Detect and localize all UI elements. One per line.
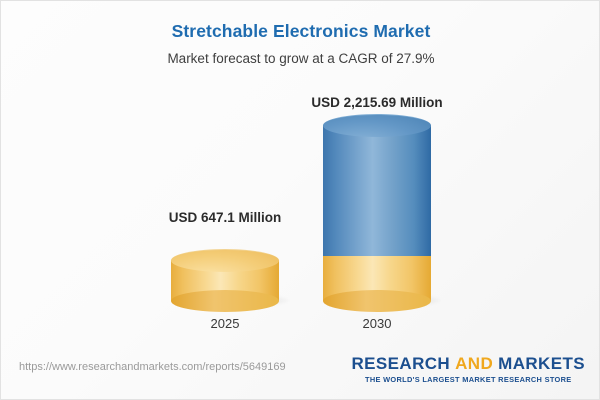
bar-group-2025[interactable]: USD 647.1 Million 2025 <box>171 1 279 346</box>
plot-area: USD 647.1 Million 2025 USD 2,215.69 Mill… <box>1 1 600 346</box>
cylinder-bottom-cap <box>323 290 431 312</box>
bar-value-label-2030: USD 2,215.69 Million <box>311 95 442 110</box>
logo-word-and: AND <box>455 354 493 373</box>
category-label-2025: 2025 <box>211 316 240 331</box>
source-url[interactable]: https://www.researchandmarkets.com/repor… <box>19 361 286 373</box>
logo-word-markets: MARKETS <box>498 354 585 373</box>
logo-wordmark: RESEARCHANDMARKETS <box>352 355 586 373</box>
cylinder-body <box>323 125 431 256</box>
cylinder-segment-growth-2030 <box>323 125 431 256</box>
logo-word-research: RESEARCH <box>352 354 451 373</box>
cylinder-2025 <box>171 249 279 301</box>
research-and-markets-logo[interactable]: RESEARCHANDMARKETS THE WORLD'S LARGEST M… <box>352 355 586 384</box>
cylinder-segment-base-2025 <box>171 260 279 301</box>
cylinder-top-cap <box>323 114 431 137</box>
cylinder-segment-base-2030 <box>323 256 431 301</box>
chart-canvas: Stretchable Electronics Market Market fo… <box>0 0 600 400</box>
category-label-2030: 2030 <box>363 316 392 331</box>
bar-group-2030[interactable]: USD 2,215.69 Million 2030 <box>323 1 431 346</box>
cylinder-bottom-cap <box>171 290 279 312</box>
bar-value-label-2025: USD 647.1 Million <box>169 210 282 225</box>
cylinder-top-cap <box>171 249 279 272</box>
logo-tagline: THE WORLD'S LARGEST MARKET RESEARCH STOR… <box>352 375 586 384</box>
cylinder-2030 <box>323 114 431 301</box>
footer: https://www.researchandmarkets.com/repor… <box>1 347 600 399</box>
